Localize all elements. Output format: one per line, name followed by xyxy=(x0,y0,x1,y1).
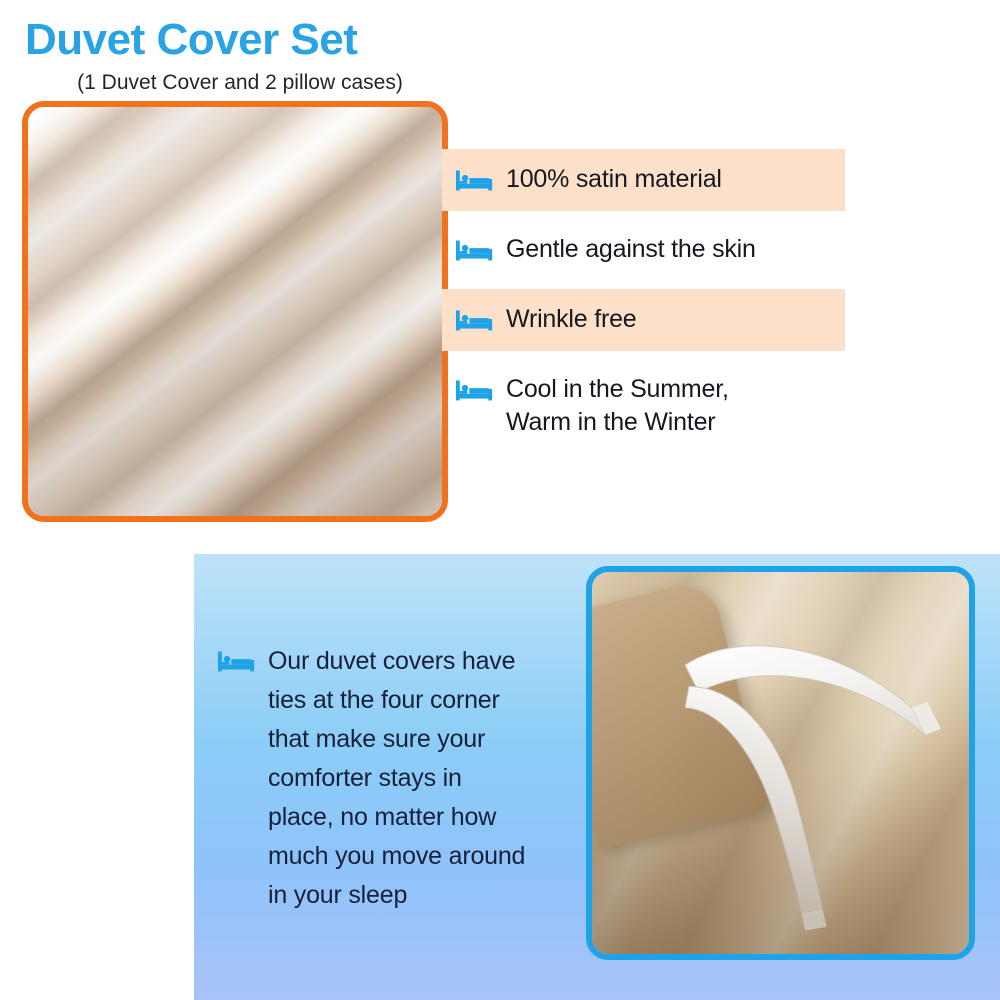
bed-icon xyxy=(218,648,256,674)
bed-icon xyxy=(456,237,494,263)
page-subtitle: (1 Duvet Cover and 2 pillow cases) xyxy=(25,71,455,94)
ties-description: Our duvet covers have ties at the four c… xyxy=(268,642,525,915)
ribbon-tie-photo xyxy=(586,566,975,960)
feature-row-wrinkle-free: Wrinkle free xyxy=(442,289,845,351)
feature-label: Wrinkle free xyxy=(506,303,637,336)
feature-label: 100% satin material xyxy=(506,163,722,196)
feature-label: Cool in the Summer, Warm in the Winter xyxy=(506,373,729,438)
feature-row-gentle-skin: Gentle against the skin xyxy=(442,219,845,281)
page-title: Duvet Cover Set xyxy=(25,18,455,62)
feature-row-temperature: Cool in the Summer, Warm in the Winter xyxy=(442,359,845,455)
infographic-canvas: Duvet Cover Set (1 Duvet Cover and 2 pil… xyxy=(0,0,1000,1000)
feature-label: Gentle against the skin xyxy=(506,233,756,266)
satin-shading-overlay xyxy=(28,107,442,516)
bed-icon xyxy=(456,167,494,193)
satin-photo-image xyxy=(28,107,442,516)
ties-feature-block: Our duvet covers have ties at the four c… xyxy=(218,642,578,915)
section-divider xyxy=(0,522,1000,554)
bed-icon xyxy=(456,377,494,403)
satin-fabric-photo xyxy=(22,101,448,522)
bed-icon xyxy=(456,307,494,333)
feature-row-satin-material: 100% satin material xyxy=(442,149,845,211)
tie-photo-image xyxy=(592,572,969,954)
tie-shading-overlay xyxy=(592,572,969,954)
